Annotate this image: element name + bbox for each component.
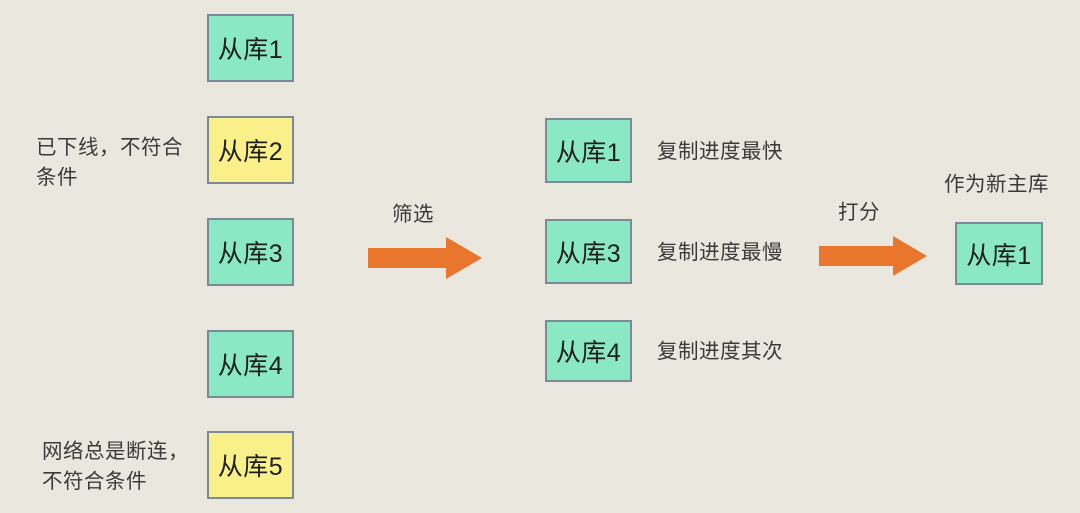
new-master-node[interactable]: 从库1 — [955, 222, 1043, 285]
candidate-node-3-label: 从库3 — [218, 234, 283, 270]
filtered-caption-2: 复制进度最慢 — [657, 239, 783, 267]
filtered-node-1-label: 从库1 — [556, 133, 621, 169]
filtered-node-3-label: 从库4 — [556, 333, 621, 369]
candidate-node-5-label: 从库5 — [218, 447, 283, 483]
candidate-node-4[interactable]: 从库4 — [207, 330, 294, 398]
new-master-caption: 作为新主库 — [944, 171, 1049, 199]
right-arrow-icon — [819, 236, 927, 276]
score-arrow-label: 打分 — [838, 195, 880, 225]
candidate-node-1-label: 从库1 — [218, 30, 283, 66]
filtered-node-3[interactable]: 从库4 — [545, 320, 632, 382]
right-arrow-icon — [368, 237, 482, 279]
diagram-canvas: 从库1 从库2 从库3 从库4 从库5 已下线，不符合 条件 网络总是断连， 不… — [0, 0, 1080, 513]
exclusion-note-network: 网络总是断连， 不符合条件 — [42, 437, 212, 497]
filtered-node-2-label: 从库3 — [556, 234, 621, 270]
exclusion-note-offline: 已下线，不符合 条件 — [36, 133, 201, 193]
filtered-node-1[interactable]: 从库1 — [545, 118, 632, 183]
filtered-caption-3: 复制进度其次 — [657, 338, 783, 366]
candidate-node-5[interactable]: 从库5 — [207, 431, 294, 499]
filtered-caption-1: 复制进度最快 — [657, 138, 783, 166]
candidate-node-2-label: 从库2 — [218, 132, 283, 168]
candidate-node-3[interactable]: 从库3 — [207, 218, 294, 286]
filtered-node-2[interactable]: 从库3 — [545, 219, 632, 284]
filter-arrow-label: 筛选 — [392, 197, 434, 227]
candidate-node-4-label: 从库4 — [218, 346, 283, 382]
candidate-node-1[interactable]: 从库1 — [207, 14, 294, 82]
candidate-node-2[interactable]: 从库2 — [207, 116, 294, 184]
new-master-node-label: 从库1 — [966, 236, 1031, 272]
